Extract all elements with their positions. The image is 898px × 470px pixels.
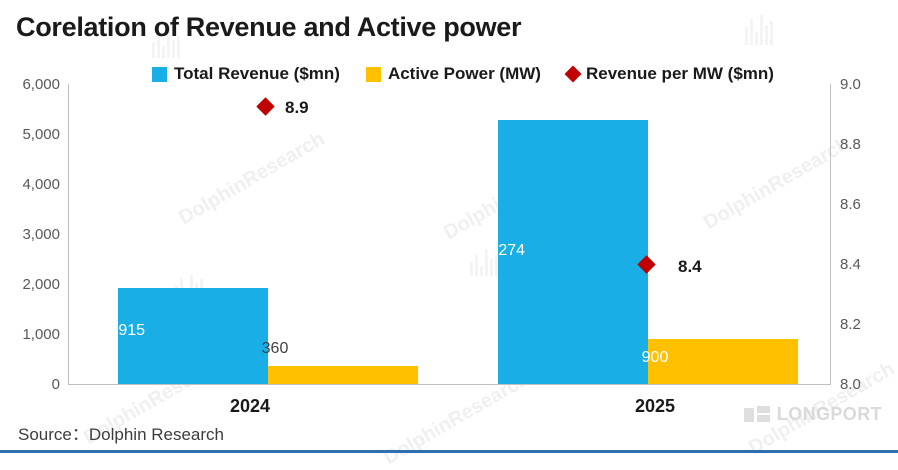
chart-root: DolphinResearch DolphinResearch DolphinR… — [0, 0, 898, 453]
right-axis-line — [830, 84, 831, 384]
left-axis-tick-label: 6,000 — [4, 76, 60, 93]
marker-value-label-2024: 8.9 — [285, 98, 309, 118]
right-axis-tick-label: 8.6 — [840, 196, 861, 213]
right-axis-tick-label: 8.0 — [840, 376, 861, 393]
source-value: Dolphin Research — [89, 425, 224, 444]
right-axis-tick-label: 9.0 — [840, 76, 861, 93]
x-axis-category-2025: 2025 — [598, 396, 712, 417]
legend-label: Total Revenue ($mn) — [174, 64, 340, 84]
bar-value-label-active-power-2025: 900 — [580, 349, 730, 367]
source-label: Source： — [18, 425, 89, 444]
bar-value-label-revenue-2024: 1,915 — [50, 322, 200, 340]
legend-item-total-revenue: Total Revenue ($mn) — [152, 64, 340, 84]
legend-swatch-square-icon — [366, 67, 381, 82]
chart-legend: Total Revenue ($mn) Active Power (MW) Re… — [152, 64, 774, 84]
legend-item-revenue-per-mw: Revenue per MW ($mn) — [567, 64, 774, 84]
marker-value-label-2025: 8.4 — [678, 257, 702, 277]
x-axis-category-2024: 2024 — [193, 396, 307, 417]
legend-label: Active Power (MW) — [388, 64, 541, 84]
legend-swatch-diamond-icon — [564, 66, 581, 83]
right-axis-tick-label: 8.8 — [840, 136, 861, 153]
left-axis-tick-label: 2,000 — [4, 276, 60, 293]
left-axis-tick-label: 3,000 — [4, 226, 60, 243]
bar-active-power-2024[interactable] — [268, 366, 418, 384]
legend-label: Revenue per MW ($mn) — [586, 64, 774, 84]
bar-value-label-revenue-2025: 5,274 — [430, 242, 580, 260]
right-axis-tick-label: 8.2 — [840, 316, 861, 333]
left-axis-tick-label: 0 — [4, 376, 60, 393]
watermark-bars — [745, 15, 775, 45]
left-axis-tick-label: 5,000 — [4, 126, 60, 143]
legend-swatch-square-icon — [152, 67, 167, 82]
right-axis-tick-label: 8.4 — [840, 256, 861, 273]
brand-text: LONGPORT — [777, 404, 882, 425]
left-axis-tick-label: 4,000 — [4, 176, 60, 193]
brand-logo: LONGPORT — [744, 404, 882, 425]
source-note: Source：Dolphin Research — [18, 420, 224, 445]
bar-value-label-active-power-2024: 360 — [200, 340, 350, 358]
page-title: Corelation of Revenue and Active power — [16, 12, 521, 43]
x-axis-line — [68, 384, 831, 385]
legend-item-active-power: Active Power (MW) — [366, 64, 541, 84]
longport-mark-icon — [744, 406, 770, 424]
